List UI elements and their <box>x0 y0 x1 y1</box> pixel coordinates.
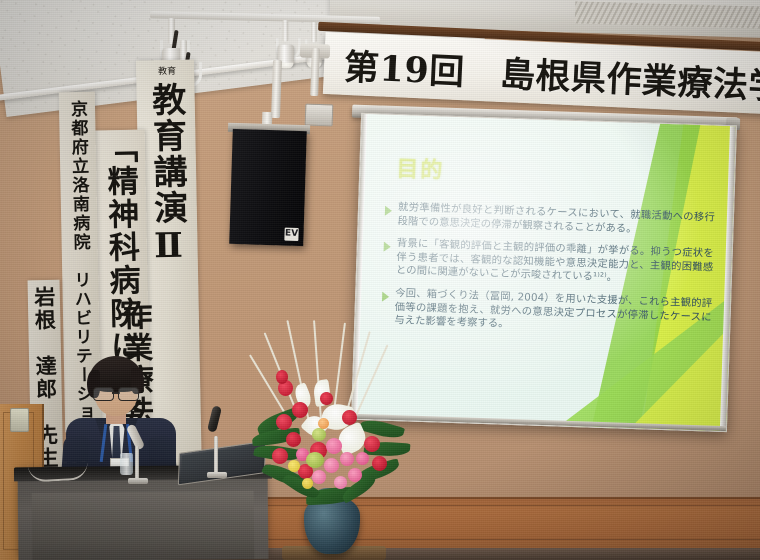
rose-bloom-red <box>272 448 288 464</box>
slide-bullet-text: 背景に「客観的評価と主観的評価の乖離」が挙がる。抑うつ症状を伴う患者では、客観的… <box>396 237 714 288</box>
triangle-bullet-icon <box>385 206 392 216</box>
slide-bullet-list: 就労準備性が良好と判断されるケースにおいて、就職活動への移行段階での意思決定の停… <box>381 201 715 348</box>
speaker-brand-logo: EV <box>284 228 298 241</box>
rose-bloom-pink <box>340 452 354 466</box>
accent-bloom-yellow <box>302 478 313 489</box>
decorative-branch <box>354 345 388 419</box>
presentation-photo: 第19回 島根県作業療法学会 教育講演Ⅱ 教育 「精神科病院に勤務する 京都府立… <box>0 0 760 560</box>
accent-bloom-orange <box>318 418 329 429</box>
slide-bullet-item: 今回、箱づくり法（冨岡, 2004）を用いた支援が、これら主観的評価等の課題を抱… <box>381 287 712 339</box>
rose-bloom-red <box>292 402 308 418</box>
rose-bloom-pink <box>324 458 339 473</box>
rose-bloom-pink <box>334 476 347 489</box>
wall-light-switch[interactable] <box>10 408 29 432</box>
slide-bullet-text: 今回、箱づくり法（冨岡, 2004）を用いた支援が、これら主観的評価等の課題を抱… <box>394 287 712 338</box>
eyeglasses-icon <box>93 387 139 399</box>
conduit-pipe <box>310 48 320 96</box>
rose-bloom-pink <box>356 452 369 465</box>
triangle-bullet-icon <box>382 292 389 302</box>
rose-bloom-red <box>276 414 292 430</box>
vertical-banner-superscript: 教育 <box>158 64 176 77</box>
rose-bloom-red <box>342 410 357 425</box>
rose-bloom-red <box>364 436 380 452</box>
wall-junction-box <box>305 104 334 127</box>
rose-bloom-red <box>286 432 301 447</box>
rose-bloom-red <box>372 456 387 471</box>
rose-bloom-pink <box>326 438 342 454</box>
podium-front-panel <box>32 491 255 560</box>
rose-bloom-pink <box>312 470 326 484</box>
slide-bullet-item: 背景に「客観的評価と主観的評価の乖離」が挙がる。抑うつ症状を伴う患者では、客観的… <box>383 237 714 289</box>
rose-bloom-red <box>320 392 333 405</box>
slide-title: 目的 <box>396 151 445 185</box>
rose-bloom-red <box>276 370 288 384</box>
accent-bloom-yellow <box>288 460 300 472</box>
rose-bloom-pink <box>348 468 362 482</box>
accent-bloom-green <box>312 428 326 441</box>
floral-arrangement <box>252 318 412 560</box>
water-bottle[interactable] <box>120 453 133 475</box>
triangle-bullet-icon <box>384 242 391 252</box>
wall-mounted-speaker: EV <box>229 129 307 246</box>
accent-bloom-green <box>306 452 324 468</box>
